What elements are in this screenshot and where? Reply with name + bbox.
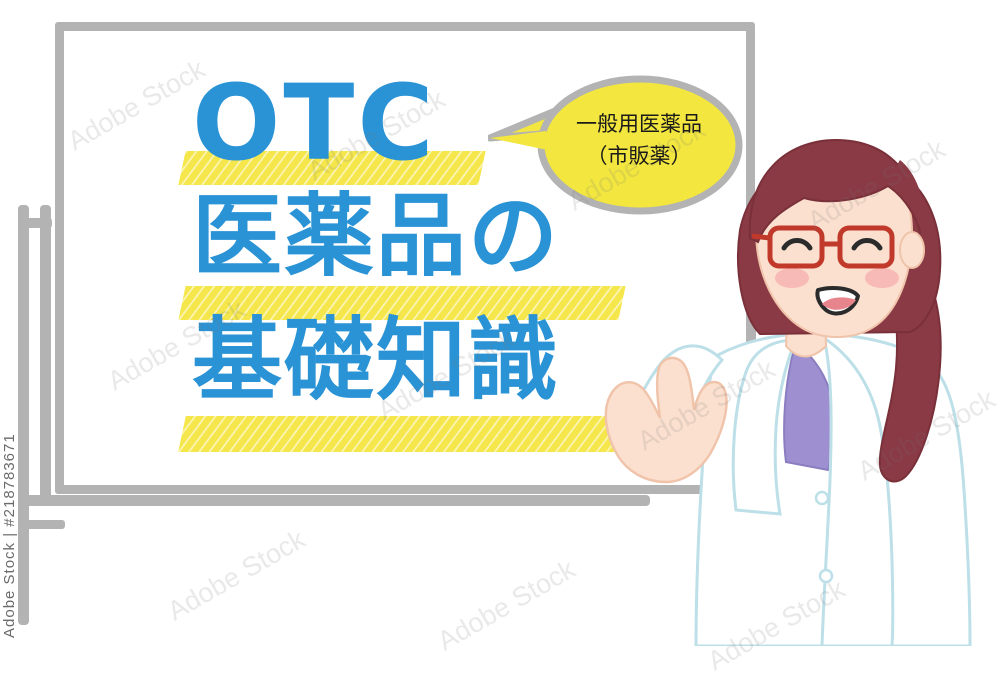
pharmacist-figure [600,110,1000,646]
illustration-canvas: OTC 医薬品の 基礎知識 一般用医薬品 （市販薬） [0,0,1000,646]
whiteboard-tray-stub [25,520,65,529]
watermark-tile: Adobe Stock [433,554,581,657]
whiteboard-leg-crossbar [18,218,52,228]
coat-button-1 [816,492,828,504]
pharmacist-illustration [600,110,1000,646]
watermark-side-text: Adobe Stock | #218783671 [1,398,23,638]
cheek-left [775,268,809,288]
speech-bubble-line-2: （市販薬） [544,141,734,173]
watermark-tile: Adobe Stock [163,524,311,627]
cheek-right [865,268,899,288]
whiteboard-leg-left-inner [40,205,51,505]
speech-bubble-text: 一般用医薬品 （市販薬） [544,109,734,172]
headline-line-3: 基礎知識 [192,299,662,423]
coat-button-2 [820,570,832,582]
whiteboard-marker-tray [25,495,650,506]
ear-right [900,232,924,268]
speech-bubble-line-1: 一般用医薬品 [544,109,734,141]
